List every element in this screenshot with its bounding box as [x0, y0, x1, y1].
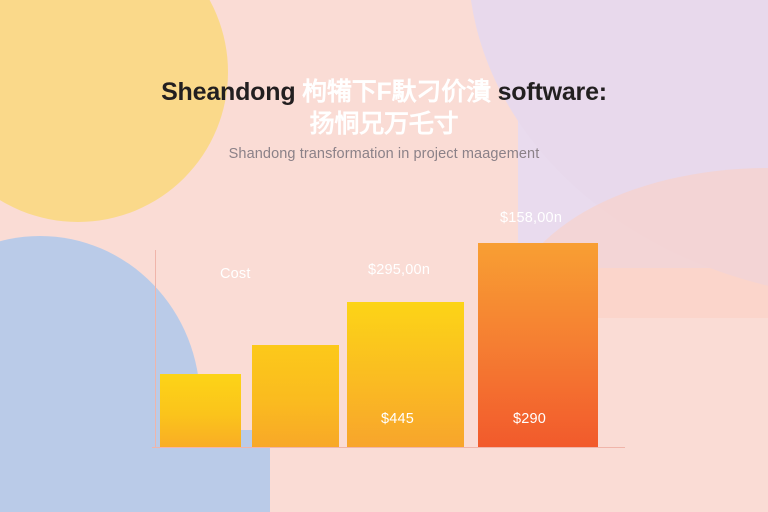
x-axis-line: [152, 447, 625, 448]
bar-label-cost: Cost: [220, 266, 251, 282]
bar-label-inside-bar-3: $445: [381, 411, 414, 427]
bar-label-above-bar-4: $158,00n: [500, 210, 562, 226]
bar-label-above-bar-3: $295,00n: [368, 262, 430, 278]
bar-2: [252, 345, 339, 447]
bar-chart: Cost $295,00n $158,00n $445 $290: [0, 0, 768, 512]
slide-canvas: Sheandong 枸犕下F馱刁价潰 software: 扬恫兄万乇寸 Shan…: [0, 0, 768, 512]
y-axis-line: [155, 250, 156, 447]
bar-1: [160, 374, 241, 447]
bar-label-inside-bar-4: $290: [513, 411, 546, 427]
